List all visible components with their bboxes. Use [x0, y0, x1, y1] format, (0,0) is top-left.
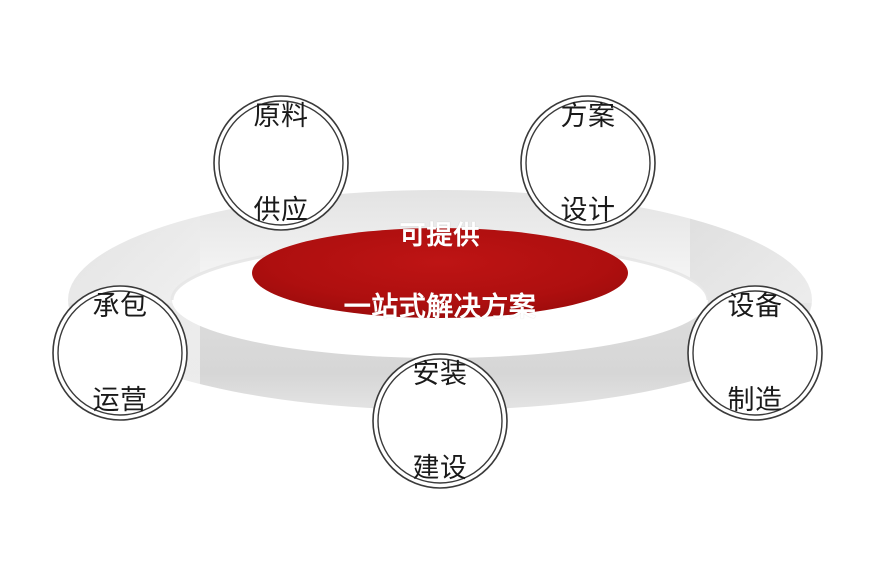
node-circle-contract-operation[interactable]	[53, 286, 187, 420]
diagram-canvas: 可提供 一站式解决方案 原料 供应 方案 设计 设备 制造 安装 建设 承包 运…	[0, 0, 881, 564]
center-label: 可提供 一站式解决方案	[344, 182, 537, 364]
center-label-line1: 可提供	[344, 220, 537, 253]
node-circle-raw-material-supply[interactable]	[214, 96, 348, 230]
center-label-line2: 一站式解决方案	[344, 291, 537, 326]
node-circle-installation-construction[interactable]	[373, 354, 507, 488]
node-circle-scheme-design[interactable]	[521, 96, 655, 230]
node-circle-equipment-manufacturing[interactable]	[688, 286, 822, 420]
